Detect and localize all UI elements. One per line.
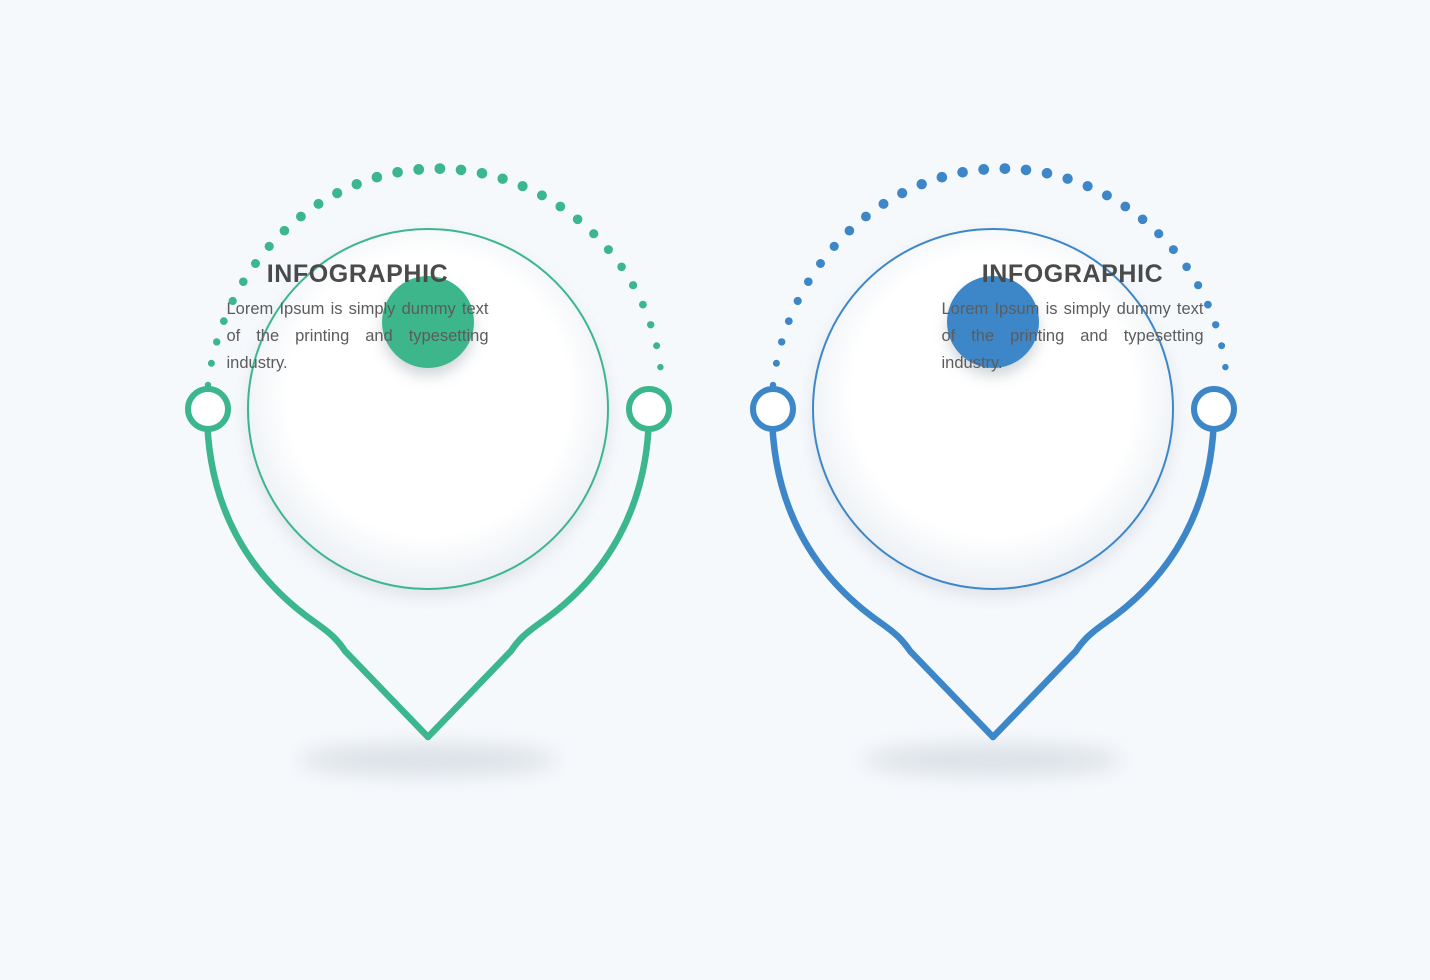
panel-1-right-ring bbox=[629, 389, 669, 429]
infographic-panel-2[interactable]: INFOGRAPHIC Lorem Ipsum is simply dummy … bbox=[715, 0, 1430, 980]
panel-2-right-ring bbox=[1194, 389, 1234, 429]
panel-2-ground-shadow bbox=[863, 745, 1123, 775]
infographic-panel-1[interactable]: INFOGRAPHIC Lorem Ipsum is simply dummy … bbox=[0, 0, 715, 980]
panel-1-icon-disc bbox=[382, 276, 474, 368]
panel-2-graphic bbox=[715, 0, 1430, 980]
panel-1-ground-shadow bbox=[298, 745, 558, 775]
panel-2-icon-disc bbox=[947, 276, 1039, 368]
panel-1-left-ring bbox=[188, 389, 228, 429]
infographic-canvas: INFOGRAPHIC Lorem Ipsum is simply dummy … bbox=[0, 0, 1430, 980]
panel-2-left-ring bbox=[753, 389, 793, 429]
panel-1-graphic bbox=[0, 0, 715, 980]
